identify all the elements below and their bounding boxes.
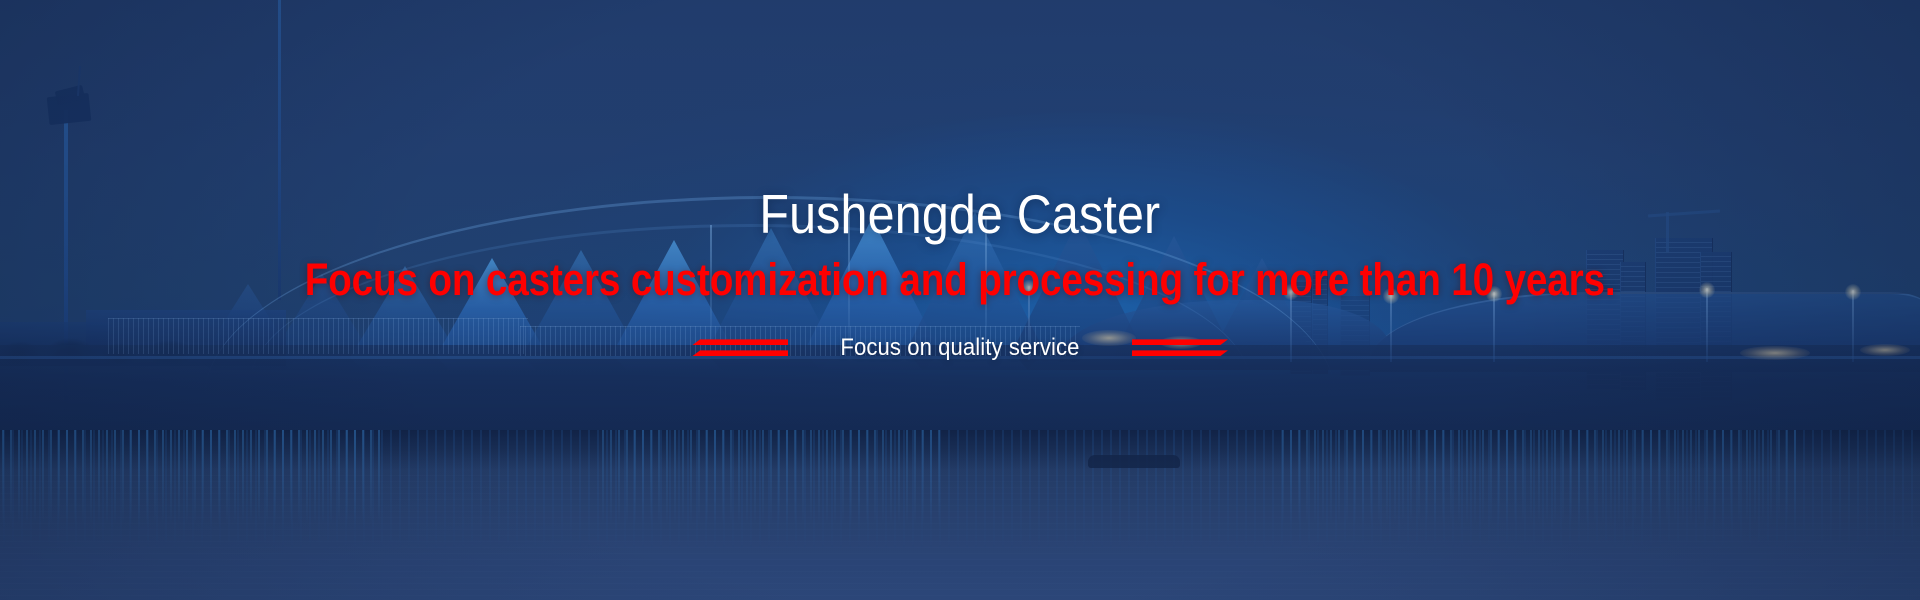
construction-crane-mast	[1666, 212, 1669, 252]
window-glow-4	[1860, 344, 1910, 356]
banner-tagline: Focus on quality service	[802, 334, 1118, 362]
red-accent-bars-right	[1132, 337, 1228, 359]
banner-tagline-row: Focus on quality service	[692, 334, 1228, 362]
lamp-post-5	[1706, 288, 1708, 362]
lamp-glow-6	[1845, 284, 1861, 300]
perimeter-fence-left	[108, 318, 528, 354]
accent-bar-right-bottom	[1132, 350, 1228, 356]
lamp-glow-5	[1699, 282, 1715, 298]
water-ripples	[0, 470, 1920, 600]
red-accent-bars-left	[692, 337, 788, 359]
banner-subtitle: Focus on casters customization and proce…	[305, 256, 1616, 303]
accent-bar-right-top	[1132, 339, 1228, 345]
boat-silhouette	[1088, 455, 1180, 468]
accent-bar-left-bottom	[692, 350, 788, 356]
banner-title: Fushengde Caster	[759, 186, 1160, 242]
hero-banner: Fushengde Caster Focus on casters custom…	[0, 0, 1920, 600]
accent-bar-left-top	[692, 339, 788, 345]
lamp-post-6	[1852, 290, 1854, 362]
window-glow-3	[1740, 346, 1810, 360]
